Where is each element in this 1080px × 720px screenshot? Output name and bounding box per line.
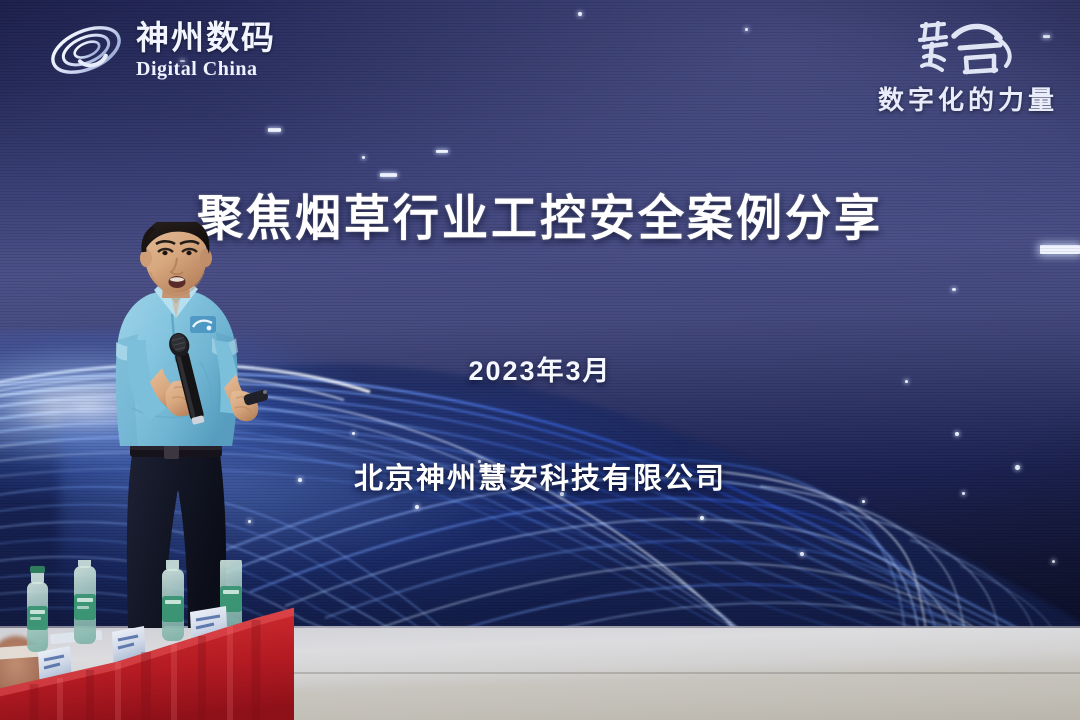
digital-china-swirl-icon bbox=[46, 18, 126, 82]
juhe-calligraphy-icon bbox=[908, 14, 1028, 86]
head-table bbox=[0, 560, 294, 720]
conference-stage-photo: 神州数码 Digital China bbox=[0, 0, 1080, 720]
water-bottle bbox=[27, 566, 48, 652]
digital-china-english-name: Digital China bbox=[136, 59, 276, 79]
digital-china-logo: 神州数码 Digital China bbox=[46, 18, 276, 82]
digital-china-chinese-name: 神州数码 bbox=[136, 21, 276, 54]
water-bottle bbox=[74, 560, 96, 644]
shirt-chest-logo bbox=[190, 316, 216, 333]
event-logo: 数字化的力量 bbox=[878, 14, 1058, 117]
water-bottle bbox=[162, 560, 184, 641]
event-tagline: 数字化的力量 bbox=[878, 80, 1058, 117]
